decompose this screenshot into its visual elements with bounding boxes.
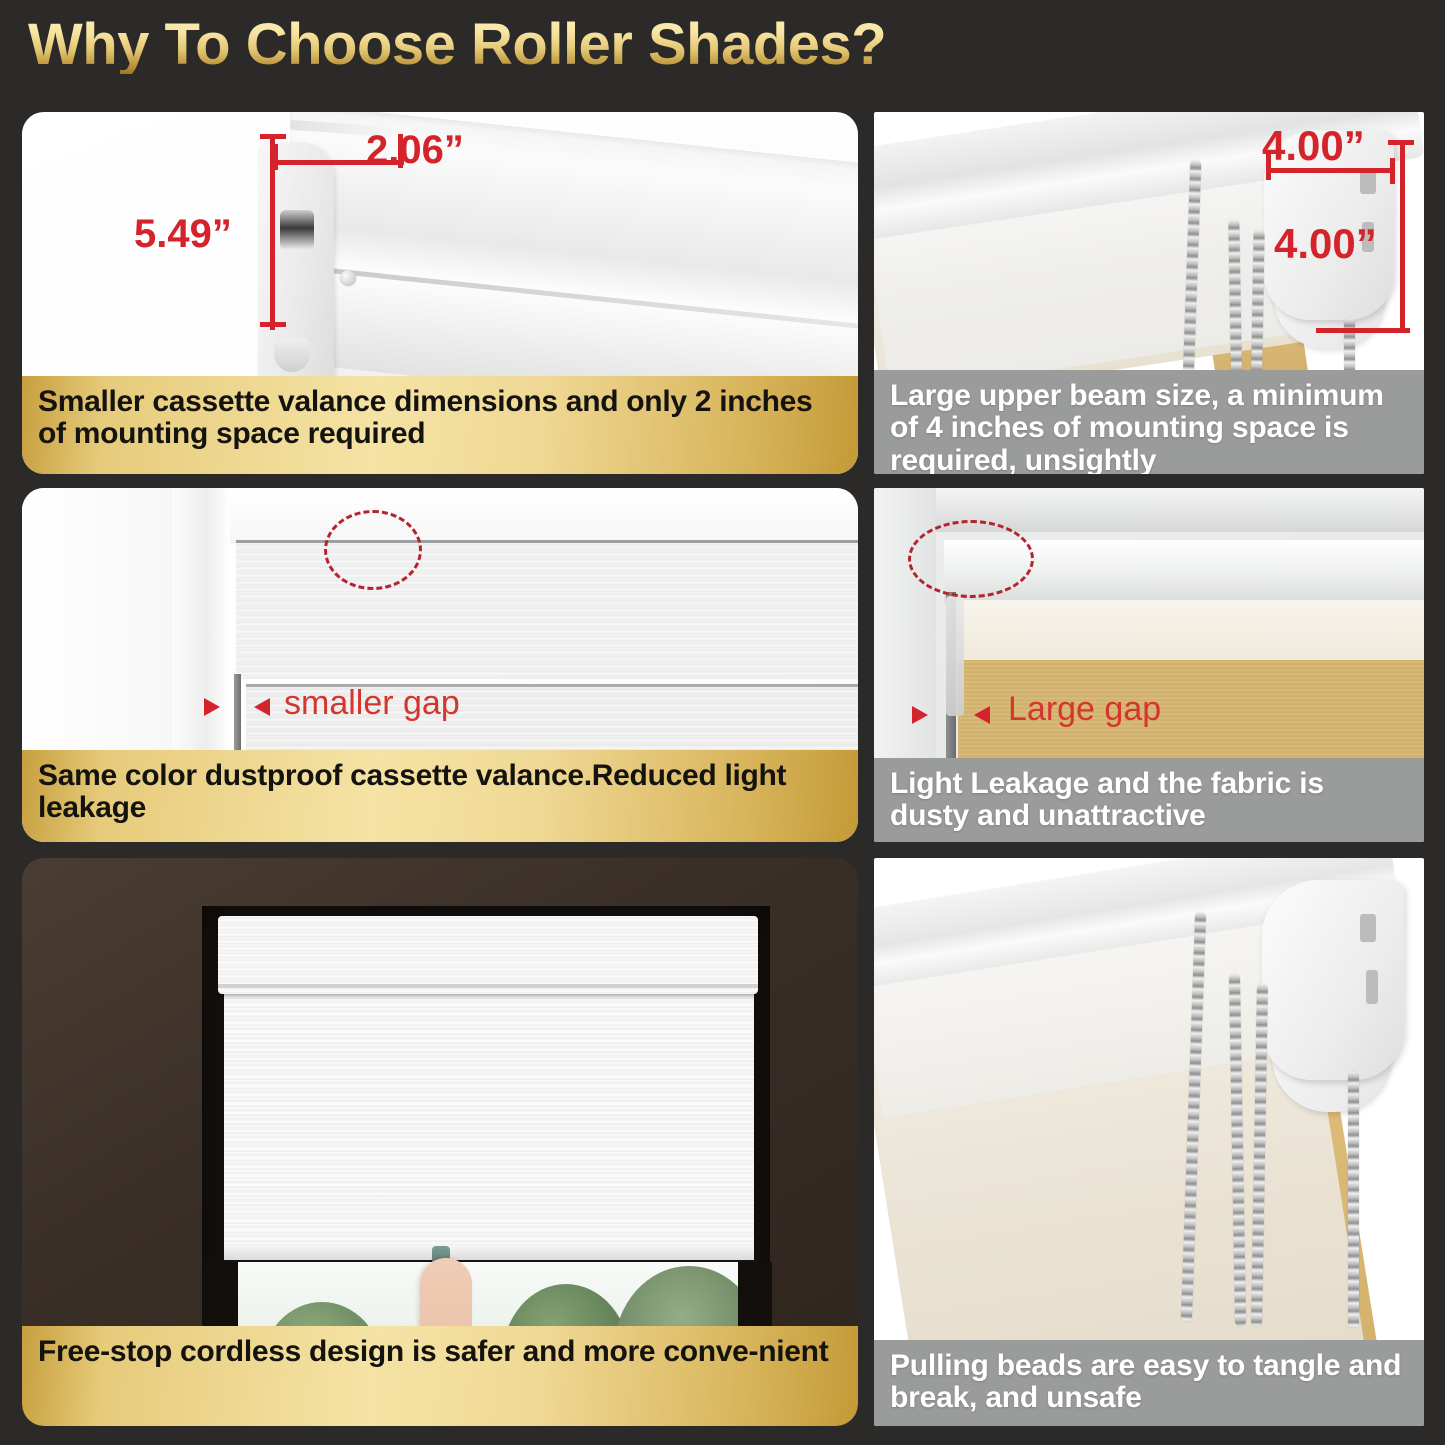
panel-caption: Large upper beam size, a minimum of 4 in… — [874, 370, 1424, 474]
gap-label: Large gap — [1008, 690, 1161, 729]
comparison-panel-pull-beads: Pulling beads are easy to tangle and bre… — [874, 858, 1424, 1426]
bracket-slot-top — [1360, 914, 1376, 942]
panel-caption: Smaller cassette valance dimensions and … — [22, 376, 858, 474]
height-dim-tick-bottom — [260, 322, 286, 327]
height-dim-line — [1400, 140, 1405, 332]
page-title: Why To Choose Roller Shades? — [28, 16, 886, 74]
width-dimension-label: 2.06” — [366, 128, 464, 173]
highlight-circle-icon — [908, 520, 1034, 598]
shade-fabric-cream — [956, 600, 1424, 662]
gap-arrow-left-icon — [254, 698, 270, 716]
panel-caption: Light Leakage and the fabric is dusty an… — [874, 758, 1424, 842]
height-dimension-label: 4.00” — [1274, 220, 1377, 268]
panel-caption: Same color dustproof cassette valance.Re… — [22, 750, 858, 842]
panel-caption: Pulling beads are easy to tangle and bre… — [874, 1340, 1424, 1426]
height-dimension-label: 5.49” — [134, 212, 232, 257]
roller-shade-fabric — [224, 990, 754, 1252]
ceiling-band — [932, 488, 1424, 532]
roller-bracket-upper — [1262, 880, 1404, 1080]
gap-arrow-right-icon — [204, 698, 220, 716]
comparison-panel-cordless-design: Free-stop cordless design is safer and m… — [22, 858, 858, 1426]
gap-label: smaller gap — [284, 684, 460, 723]
window-head-trim — [208, 488, 858, 544]
bead-chain-4 — [1348, 1072, 1359, 1328]
panel-caption: Free-stop cordless design is safer and m… — [22, 1326, 858, 1426]
valance-slot — [280, 210, 314, 250]
height-dim-tick-top — [1388, 140, 1414, 145]
height-dim-tick-bottom — [1316, 328, 1410, 333]
cassette-valance — [218, 916, 758, 994]
shade-bottom-bar — [224, 1246, 754, 1260]
comparison-panel-large-beam: 4.00” 4.00” Large upper beam size, a min… — [874, 112, 1424, 474]
highlight-circle-icon — [324, 510, 422, 590]
valance-screw — [340, 270, 356, 286]
comparison-panel-cassette-dimensions: 2.06” 5.49” Smaller cassette valance dim… — [22, 112, 858, 474]
width-dimension-label: 4.00” — [1262, 122, 1365, 170]
gap-arrow-left-icon — [974, 706, 990, 724]
height-dim-tick-top — [260, 134, 286, 139]
comparison-panel-smaller-gap: smaller gap Same color dustproof cassett… — [22, 488, 858, 842]
height-dim-line — [270, 134, 275, 330]
shade-clip — [946, 596, 964, 716]
width-dim-tick-right — [1390, 158, 1395, 184]
comparison-panel-large-gap: Large gap Light Leakage and the fabric i… — [874, 488, 1424, 842]
bracket-slot-bottom — [1366, 970, 1378, 1004]
gap-arrow-right-icon — [912, 706, 928, 724]
